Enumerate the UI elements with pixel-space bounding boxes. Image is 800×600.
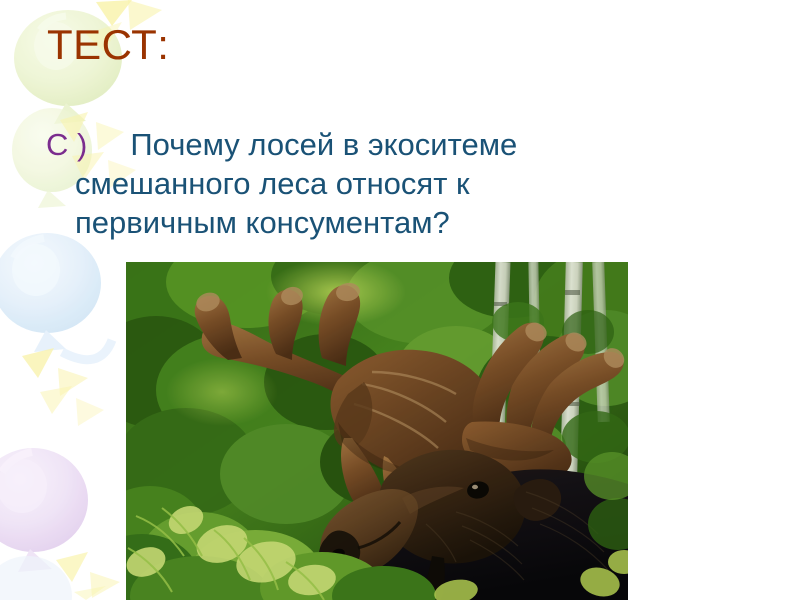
moose-photo [126, 262, 628, 600]
moose-photo-svg [126, 262, 628, 600]
page-title: ТЕСТ: [47, 20, 169, 70]
question-line-2: смешанного леса относят к [46, 164, 696, 203]
question-line-1: C ) Почему лосей в экоситеме [46, 125, 696, 164]
question-block: C ) Почему лосей в экоситеме смешанного … [46, 125, 696, 242]
question-line-1-text: Почему лосей в экоситеме [87, 127, 517, 162]
question-marker: C ) [46, 127, 87, 162]
slide-canvas: ТЕСТ: C ) Почему лосей в экоситеме смеша… [0, 0, 800, 600]
balloon-blue-arc-icon [62, 340, 112, 360]
balloon-bottom-icon [0, 556, 72, 600]
balloon-blue-icon [0, 233, 101, 352]
balloon-lavender-icon [0, 448, 88, 572]
question-line-3: первичным консументам? [46, 203, 696, 242]
